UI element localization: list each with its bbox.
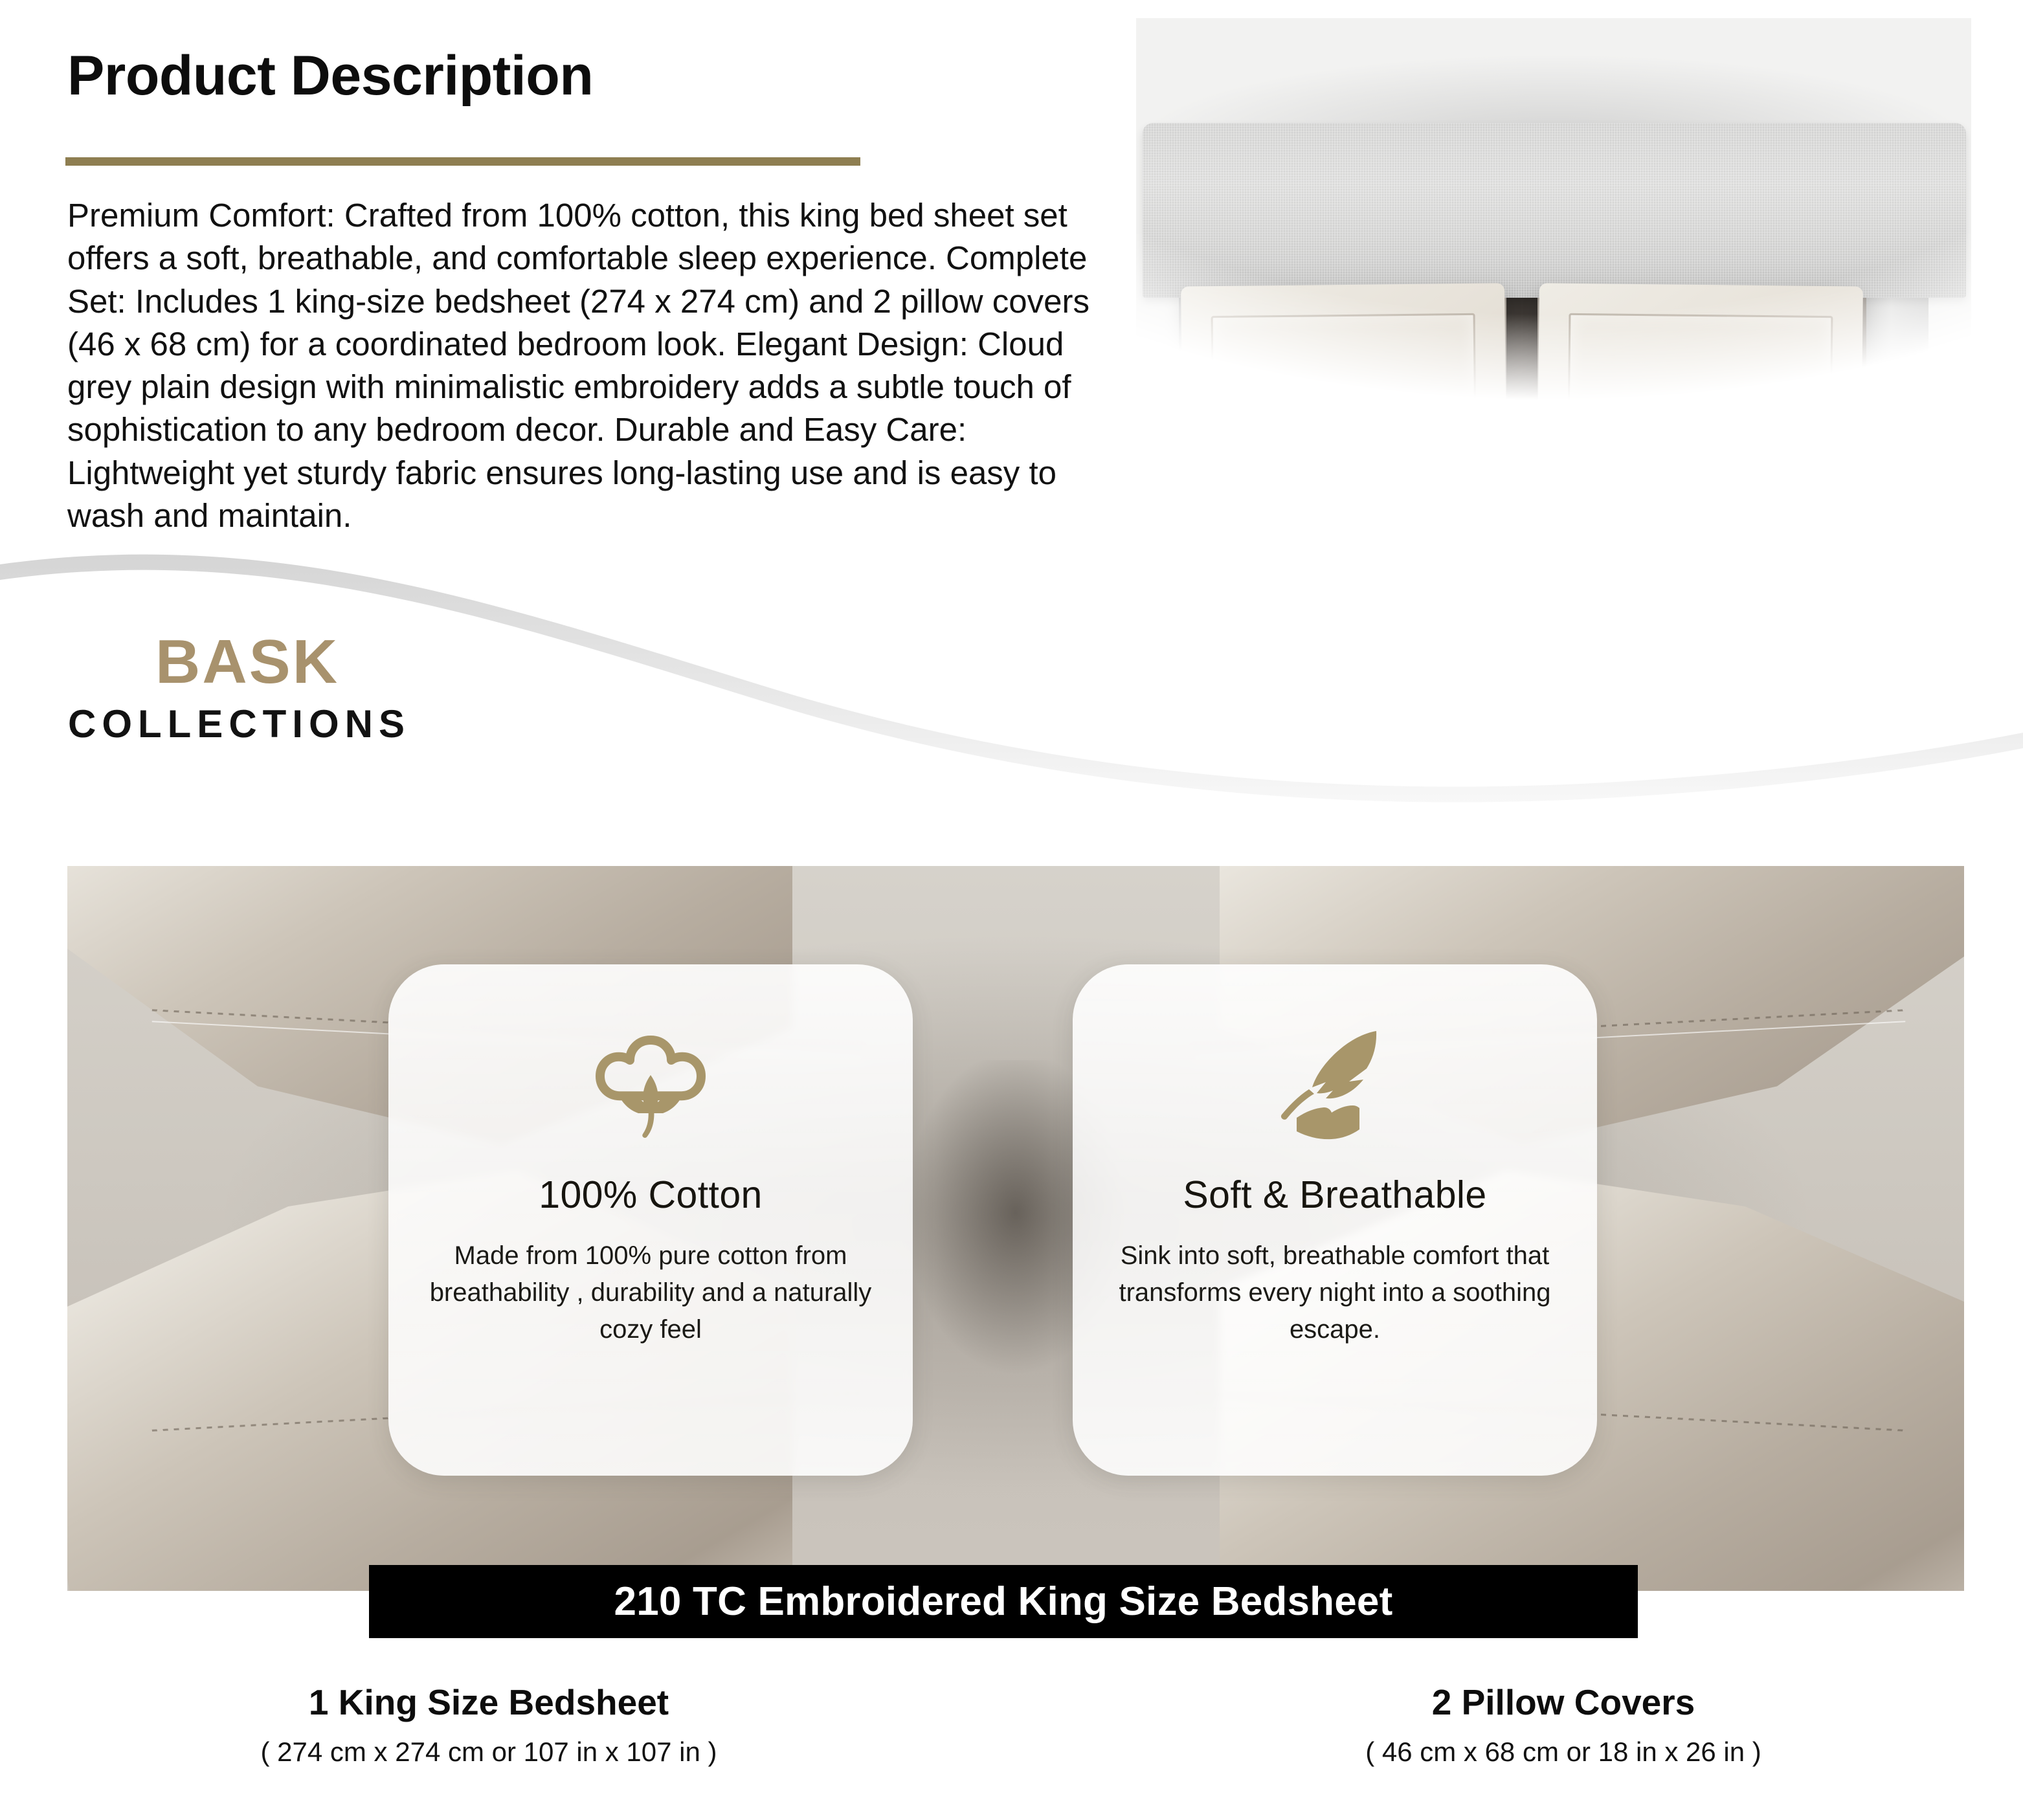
contents-title: 2 Pillow Covers: [1146, 1683, 1981, 1722]
feature-description: Made from 100% pure cotton from breathab…: [427, 1237, 874, 1348]
contents-dimensions: ( 274 cm x 274 cm or 107 in x 107 in ): [71, 1737, 906, 1768]
bed-headboard: [1143, 123, 1966, 298]
feature-card-soft-breathable: Soft & Breathable Sink into soft, breath…: [1073, 964, 1597, 1476]
feature-title: Soft & Breathable: [1183, 1173, 1486, 1217]
product-description-section: Product Description Premium Comfort: Cra…: [0, 0, 2023, 841]
pillow-left: [1181, 283, 1508, 649]
contents-title: 1 King Size Bedsheet: [71, 1683, 906, 1722]
bed-top-view-photo: [1136, 18, 1971, 788]
contents-item-pillow-covers: 2 Pillow Covers ( 46 cm x 68 cm or 18 in…: [1146, 1683, 1981, 1768]
contents-item-bedsheet: 1 King Size Bedsheet ( 274 cm x 274 cm o…: [71, 1683, 906, 1768]
contents-dimensions: ( 46 cm x 68 cm or 18 in x 26 in ): [1146, 1737, 1981, 1768]
satin-pillows-photo: [67, 866, 1964, 1591]
feature-description: Sink into soft, breathable comfort that …: [1112, 1237, 1558, 1348]
feather-in-hand-icon-svg: [1267, 1023, 1403, 1153]
page-title: Product Description: [67, 47, 593, 105]
feature-title: 100% Cotton: [539, 1173, 763, 1217]
product-description-text: Premium Comfort: Crafted from 100% cotto…: [67, 194, 1093, 537]
product-title-text: 210 TC Embroidered King Size Bedsheet: [614, 1579, 1393, 1625]
cotton-boll-icon-svg: [586, 1023, 715, 1153]
brand-subtitle: COLLECTIONS: [0, 705, 583, 744]
product-title-banner: 210 TC Embroidered King Size Bedsheet: [369, 1565, 1638, 1638]
brand-name: BASK: [0, 631, 583, 693]
brand-logo: BASK COLLECTIONS: [0, 631, 583, 744]
feather-in-hand-icon: [1267, 1020, 1403, 1156]
title-underline-rule: [65, 157, 860, 166]
cotton-boll-icon: [586, 1020, 715, 1156]
feature-card-cotton: 100% Cotton Made from 100% pure cotton f…: [388, 964, 913, 1476]
pillow-right: [1536, 283, 1863, 649]
pillow-gap-shadow: [1506, 293, 1537, 448]
bed-rail-right: [1866, 296, 1928, 788]
